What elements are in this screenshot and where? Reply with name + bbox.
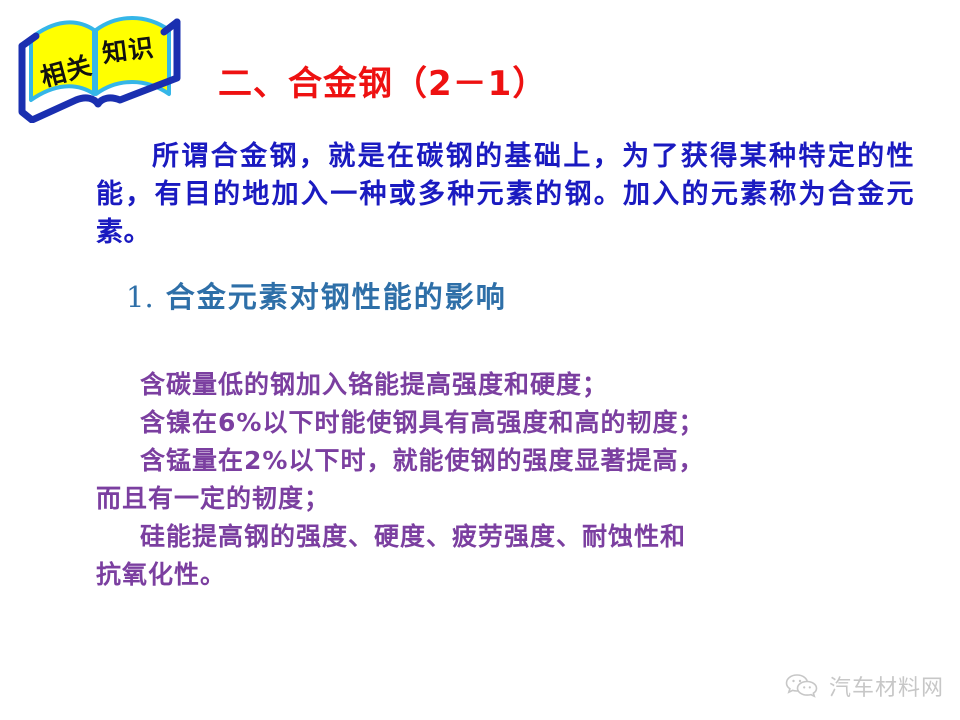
intro-paragraph: 所谓合金钢，就是在碳钢的基础上，为了获得某种特定的性能，有目的地加入一种或多种元… — [96, 138, 914, 252]
watermark: 汽车材料网 — [785, 670, 944, 702]
effect-line: 含碳量低的钢加入铬能提高强度和硬度； — [96, 366, 916, 404]
effects-list: 含碳量低的钢加入铬能提高强度和硬度； 含镍在6%以下时能使钢具有高强度和高的韧度… — [96, 366, 916, 594]
effect-line: 而且有一定的韧度； — [96, 480, 916, 518]
related-knowledge-badge: 相关 知识 — [14, 8, 189, 123]
watermark-text: 汽车材料网 — [829, 670, 944, 702]
section-heading: 1. 合金元素对钢性能的影响 — [126, 278, 507, 316]
slide-canvas: 相关 知识 二、合金钢（2－1） 所谓合金钢，就是在碳钢的基础上，为了获得某种特… — [0, 0, 960, 720]
wechat-bubble-icon — [785, 673, 819, 699]
page-title: 二、合金钢（2－1） — [218, 64, 547, 104]
effect-line: 抗氧化性。 — [96, 556, 916, 594]
effect-line: 硅能提高钢的强度、硬度、疲劳强度、耐蚀性和 — [96, 518, 916, 556]
section-heading-text: 合金元素对钢性能的影响 — [166, 280, 507, 314]
effect-line: 含锰量在2%以下时，就能使钢的强度显著提高， — [96, 442, 916, 480]
section-number: 1. — [126, 280, 154, 314]
effect-line: 含镍在6%以下时能使钢具有高强度和高的韧度； — [96, 404, 916, 442]
badge-label-right: 知识 — [100, 28, 156, 70]
